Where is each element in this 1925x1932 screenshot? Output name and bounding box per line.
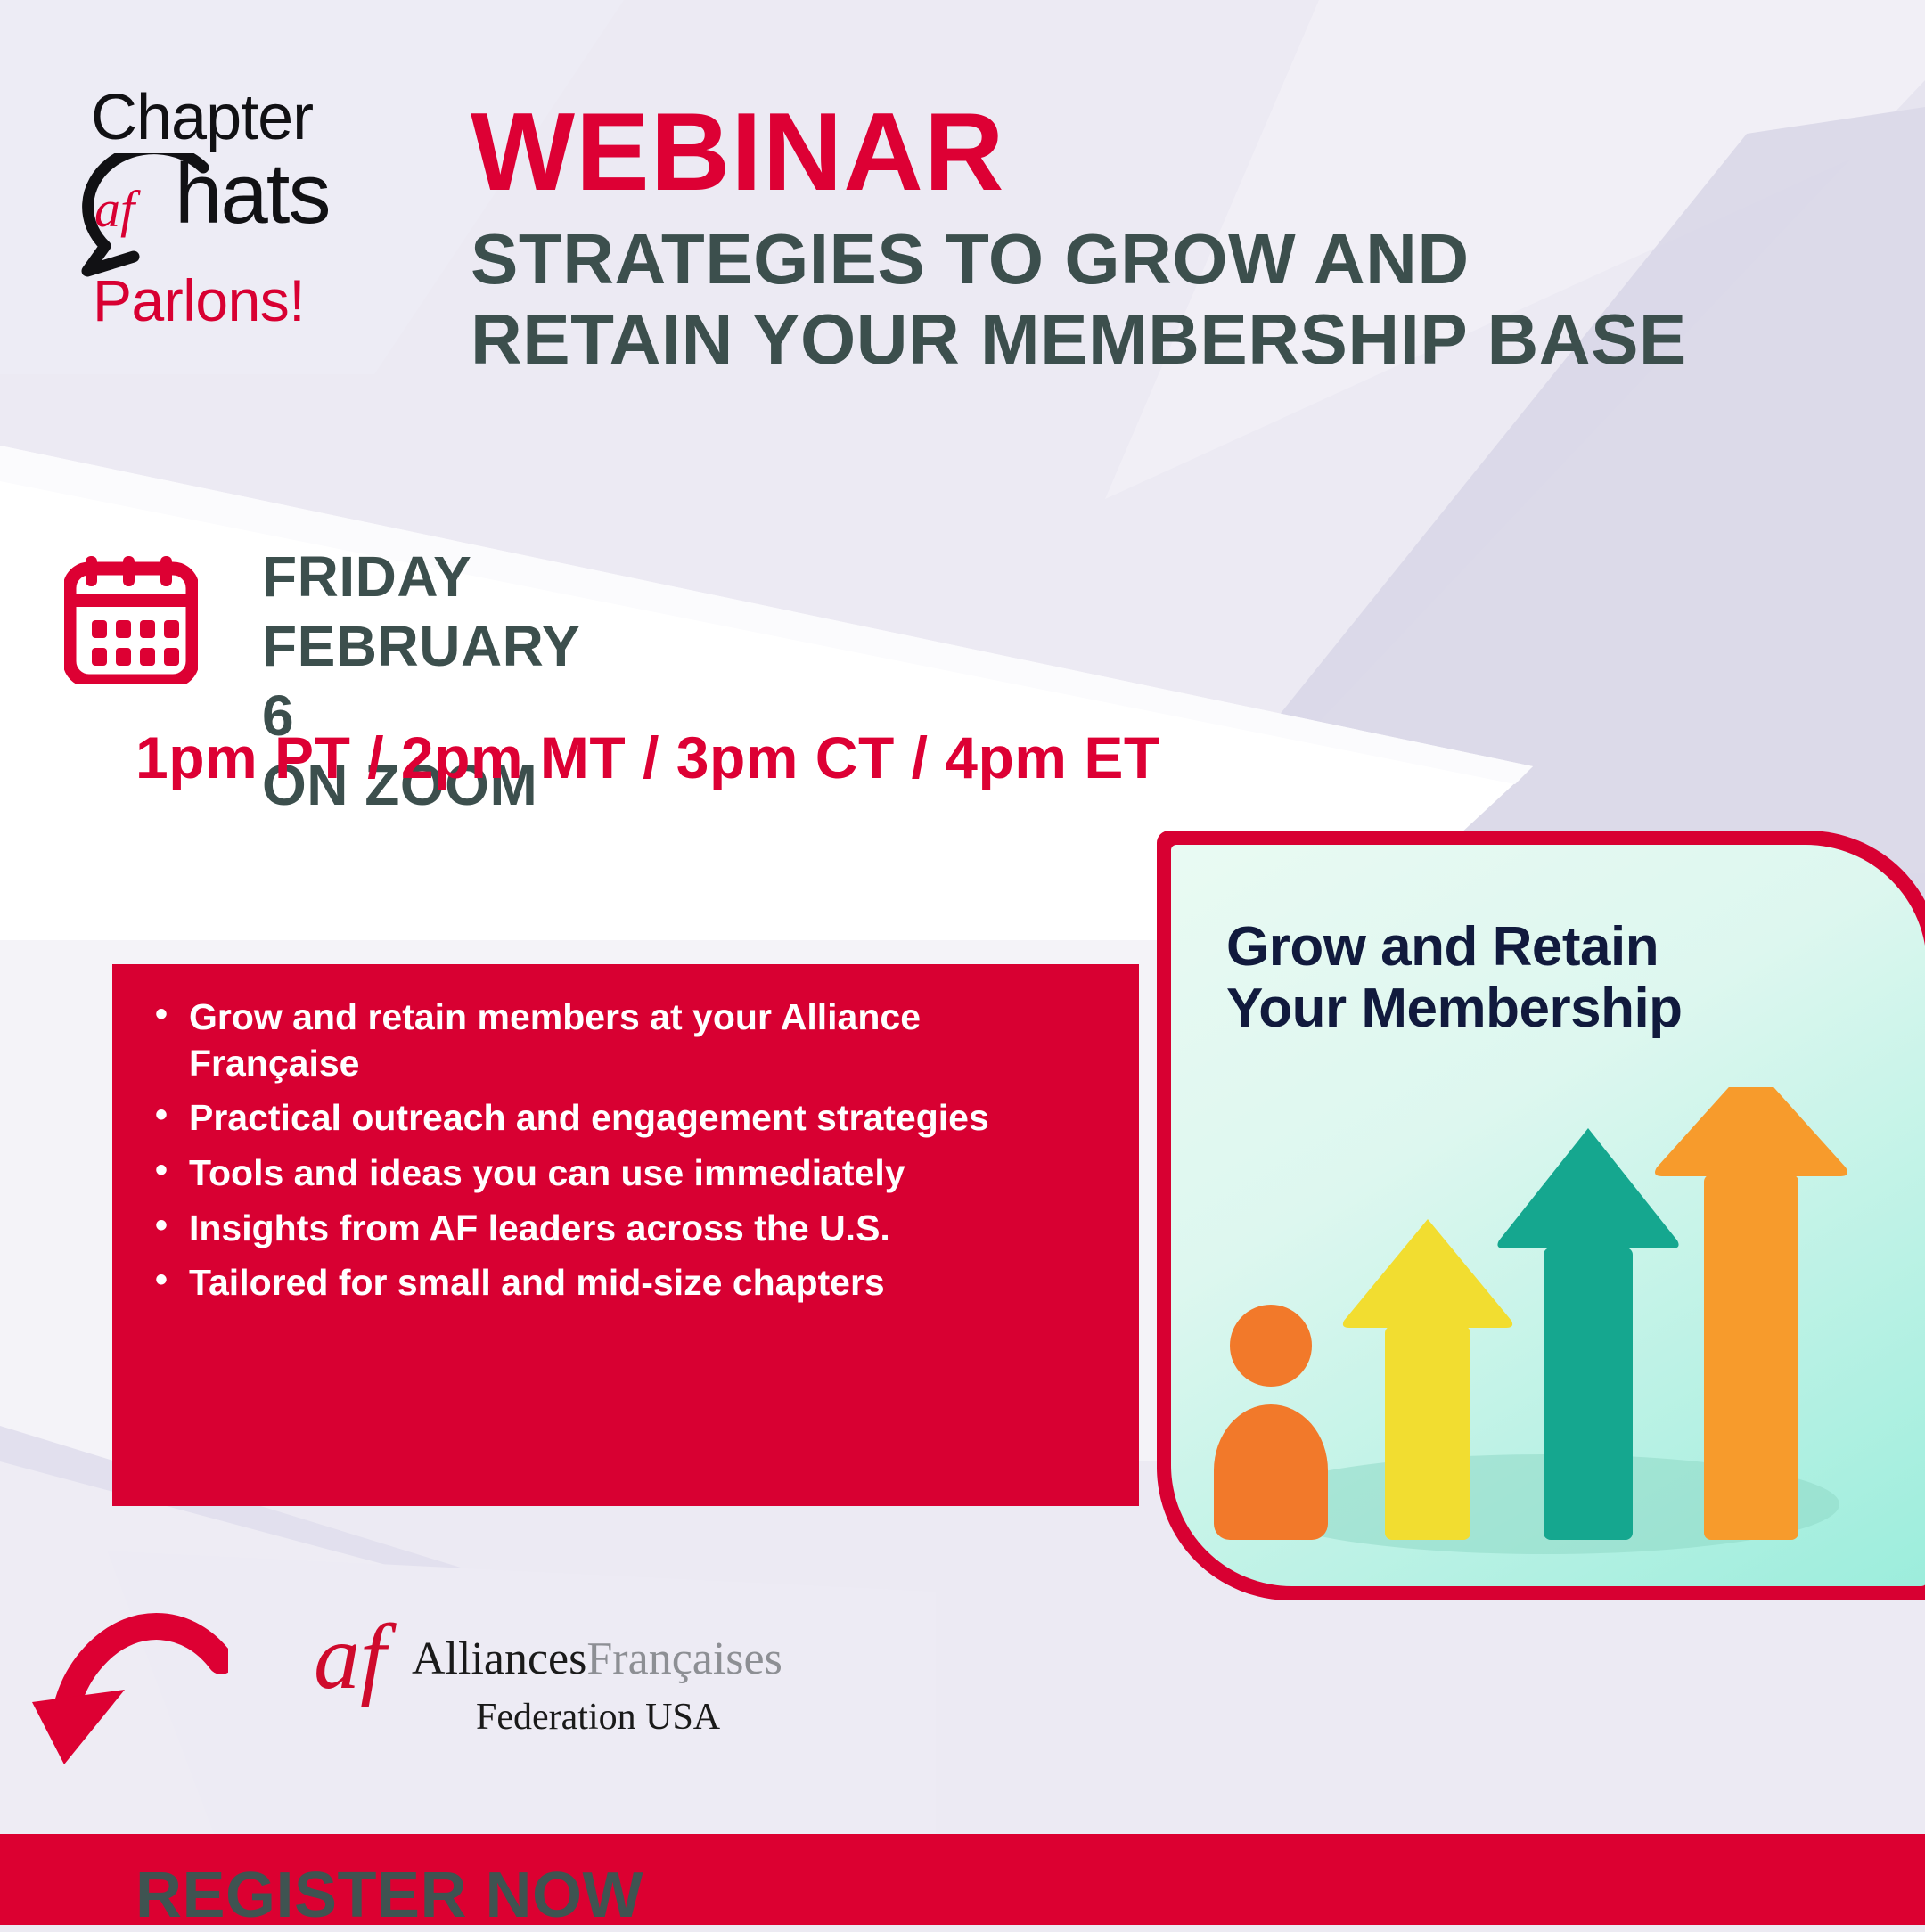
highlights-list: Grow and retain members at your Alliance… [148, 995, 1139, 1306]
event-date-line1: FRIDAY FEBRUARY 6 [262, 542, 579, 750]
federation-name-part1: Alliances [412, 1633, 586, 1684]
federation-af-mark: af [314, 1611, 386, 1704]
list-item: Tools and ideas you can use immediately [148, 1150, 1039, 1197]
chapter-chats-logo: Chapter af hats Parlons! [70, 86, 364, 371]
page-title-line2: RETAIN YOUR MEMBERSHIP BASE [471, 299, 1905, 380]
curved-down-arrow-icon [32, 1597, 228, 1802]
list-item: Insights from AF leaders across the U.S. [148, 1206, 1039, 1252]
federation-name: AlliancesFrançaises [412, 1636, 782, 1682]
list-item: Tailored for small and mid-size chapters [148, 1260, 1039, 1306]
alliances-francaises-federation-logo: af AlliancesFrançaises Federation USA [314, 1615, 813, 1748]
page-title-line1: STRATEGIES TO GROW AND [471, 219, 1905, 299]
card-title-line2: Your Membership [1226, 978, 1850, 1039]
highlights-box: Grow and retain members at your Alliance… [112, 964, 1139, 1506]
calendar-icon [64, 556, 198, 684]
list-item: Grow and retain members at your Alliance… [148, 995, 1039, 1086]
card-title: Grow and Retain Your Membership [1226, 916, 1850, 1040]
logo-line-parlons: Parlons! [93, 271, 305, 330]
register-now-label[interactable]: REGISTER NOW [135, 1859, 643, 1932]
eyebrow-webinar: WEBINAR [471, 96, 1905, 209]
logo-line-chats: hats [175, 151, 329, 237]
federation-subtitle: Federation USA [476, 1699, 720, 1736]
card-title-line1: Grow and Retain [1226, 916, 1850, 978]
growth-arrows-illustration [1171, 1087, 1925, 1586]
illustration-card: Grow and Retain Your Membership [1157, 831, 1925, 1600]
logo-af-mark: af [94, 184, 135, 235]
event-times: 1pm PT / 2pm MT / 3pm CT / 4pm ET [135, 724, 1160, 791]
logo-line-chapter: Chapter [91, 86, 313, 150]
register-now-bar[interactable]: REGISTER NOW [0, 1834, 1925, 1925]
page-title: STRATEGIES TO GROW AND RETAIN YOUR MEMBE… [471, 219, 1905, 379]
list-item: Practical outreach and engagement strate… [148, 1095, 1039, 1142]
federation-name-part2: Françaises [586, 1633, 782, 1684]
poster-root: Chapter af hats Parlons! WEBINAR STRATEG… [0, 0, 1925, 1925]
headline-block: WEBINAR STRATEGIES TO GROW AND RETAIN YO… [471, 96, 1905, 380]
illustration-card-inner: Grow and Retain Your Membership [1171, 845, 1925, 1586]
